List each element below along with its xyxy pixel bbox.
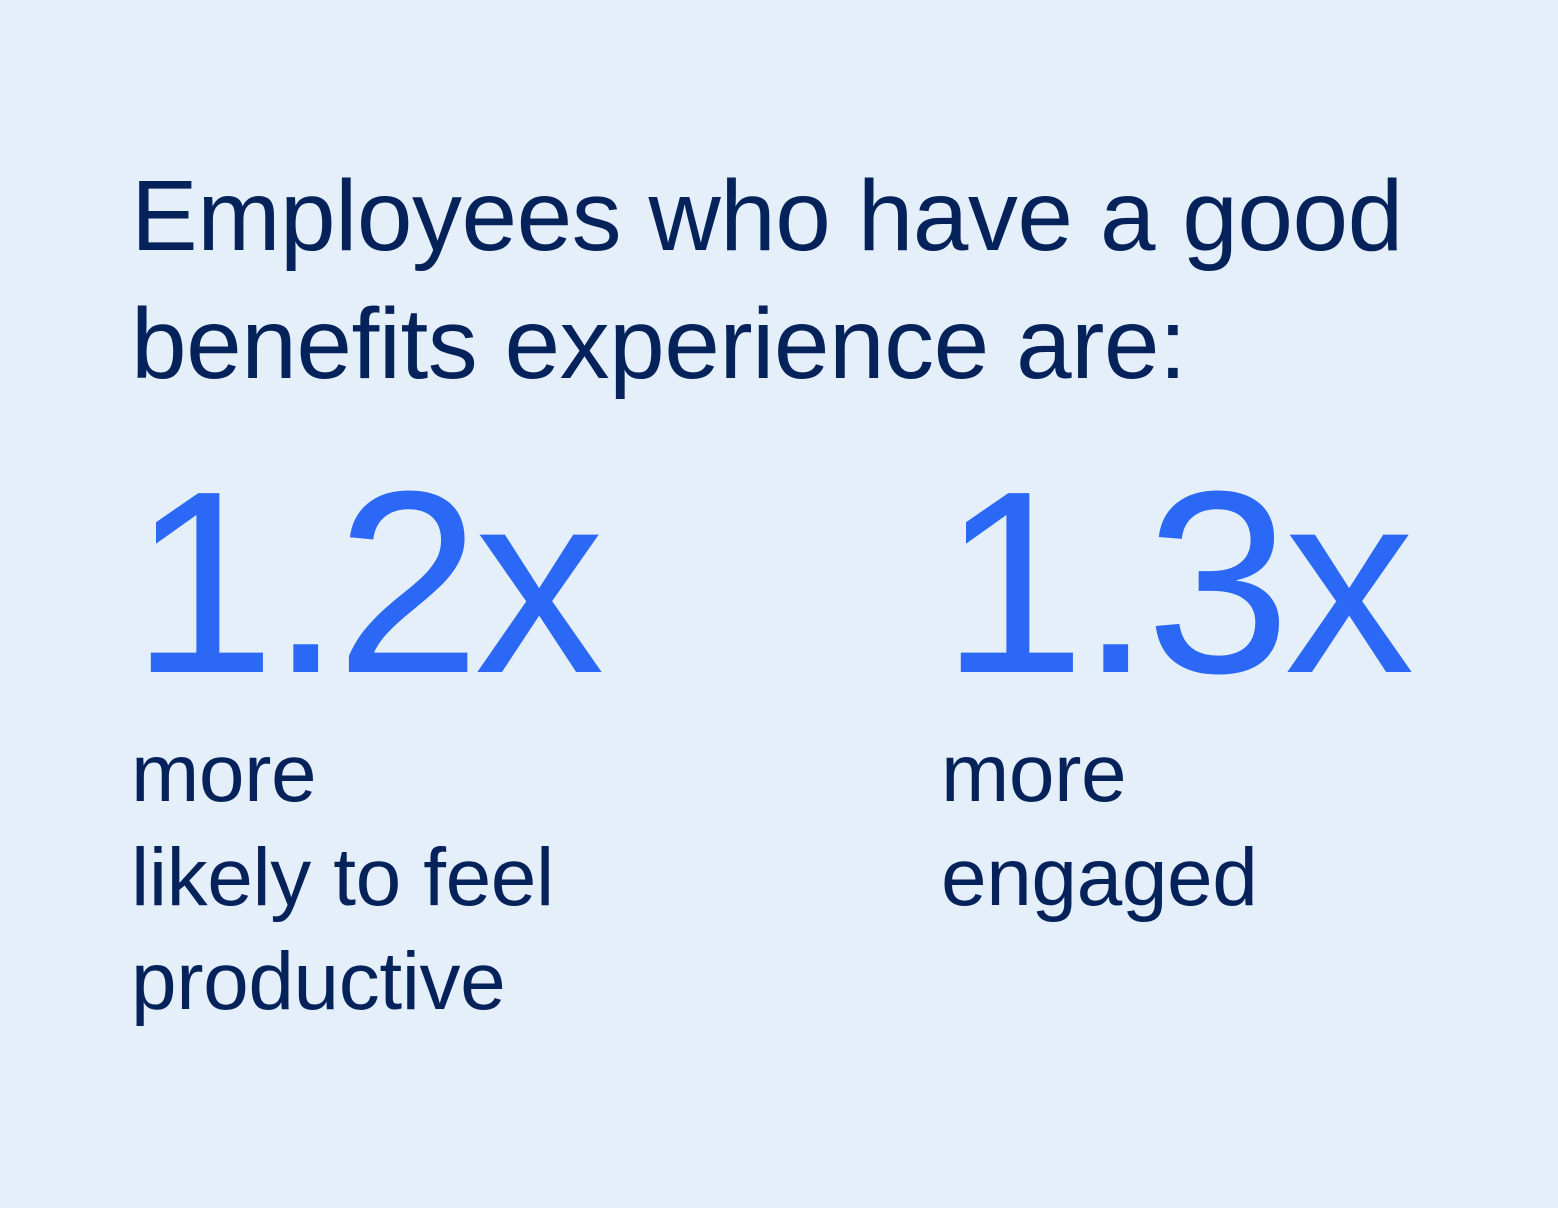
stat-value-2: 1.3x <box>941 472 1408 722</box>
stat-value-1: 1.2x <box>131 472 598 722</box>
stat-block-productive: 1.2x more likely to feel productive <box>131 472 941 1034</box>
stat-caption-2: more engaged <box>941 722 1257 930</box>
stats-row: 1.2x more likely to feel productive 1.3x… <box>131 472 1431 1034</box>
stat-block-engaged: 1.3x more engaged <box>941 472 1431 930</box>
stat-callout-slide: Employees who have a good benefits exper… <box>0 0 1558 1208</box>
page-title: Employees who have a good benefits exper… <box>131 152 1471 408</box>
stat-caption-1: more likely to feel productive <box>131 722 554 1034</box>
